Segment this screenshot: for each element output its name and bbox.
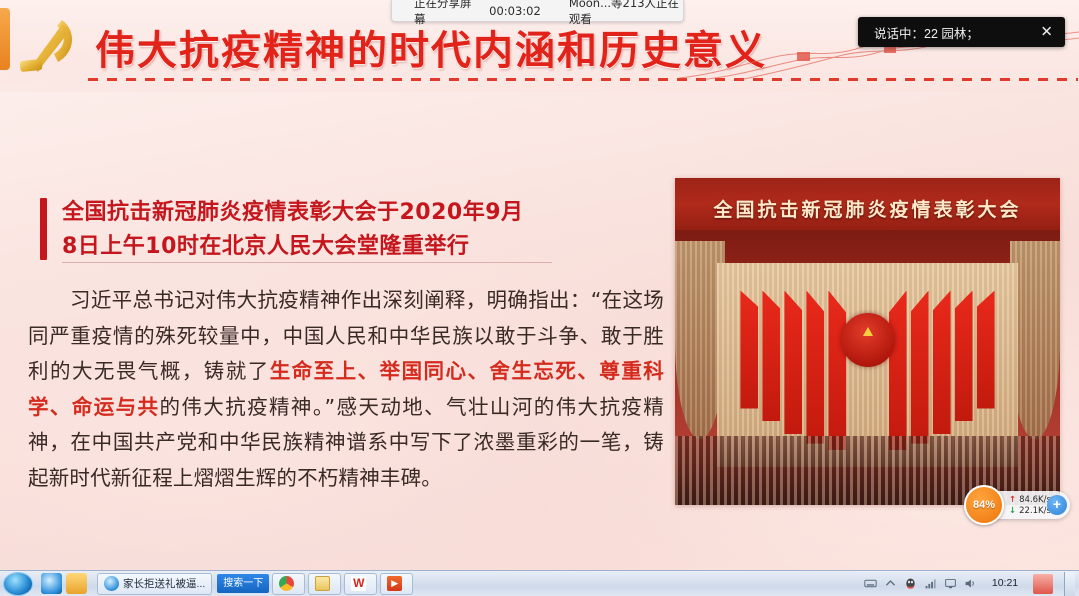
cpu-usage-ring[interactable]: 84% — [964, 485, 1004, 525]
heading-line-2: 8日上午10时在北京人民大会堂隆重举行 — [62, 230, 600, 264]
heading-line-1: 全国抗击新冠肺炎疫情表彰大会于2020年9月 — [62, 196, 600, 230]
taskbar-item-chrome[interactable] — [272, 573, 305, 595]
start-button[interactable] — [3, 572, 33, 596]
show-hidden-icons-icon[interactable] — [884, 577, 897, 590]
national-emblem-icon — [841, 313, 895, 367]
share-timer: 00:03:02 — [489, 4, 541, 18]
quick-launch-area — [41, 573, 87, 594]
network-speed-widget[interactable]: 84% ↑84.6K/s ↓22.1K/s + — [967, 491, 1070, 519]
ie-quicklaunch-icon[interactable] — [41, 573, 62, 594]
download-speed: ↓22.1K/s — [1009, 506, 1051, 516]
network-signal-icon[interactable] — [924, 577, 937, 590]
screen-share-status-bar[interactable]: 正在分享屏幕 00:03:02 Moon...等213人正在观看 — [391, 0, 684, 22]
windows-taskbar: 家长拒送礼被逼... 搜索一下 W ▶ — [0, 570, 1079, 596]
active-speaker-toast[interactable]: 说话中：22 园林； ✕ — [858, 17, 1065, 47]
photo-flags-right — [889, 291, 995, 451]
monitor-icon[interactable] — [944, 577, 957, 590]
taskbar-item-yellow-app[interactable] — [308, 573, 341, 595]
great-hall-of-the-people-photo: 全国抗击新冠肺炎疫情表彰大会 — [675, 178, 1060, 505]
header-left-accent-bar — [0, 8, 10, 70]
slide-body-paragraph: 习近平总书记对伟大抗疫精神作出深刻阐释，明确指出：“在这场同严重疫情的殊死较量中… — [28, 283, 664, 496]
page-title: 伟大抗疫精神的时代内涵和历史意义 — [95, 18, 767, 76]
chrome-icon — [279, 576, 294, 591]
download-speed-value: 22.1K/s — [1019, 506, 1051, 516]
photo-hall-interior — [675, 230, 1060, 505]
presentation-slide: 伟大抗疫精神的时代内涵和历史意义 全国抗击新冠肺炎疫情表彰大会于2020年9月 … — [0, 0, 1079, 570]
taskbar-item-media[interactable]: ▶ — [380, 573, 413, 595]
taskbar-item-label: 家长拒送礼被逼... — [123, 576, 205, 591]
taskbar-search-button[interactable]: 搜索一下 — [217, 574, 269, 593]
media-play-icon: ▶ — [387, 576, 402, 591]
close-icon[interactable]: ✕ — [1040, 25, 1053, 40]
wps-icon: W — [351, 576, 366, 591]
upload-arrow-icon: ↑ — [1009, 495, 1016, 505]
clock[interactable]: 10:21 — [984, 578, 1026, 589]
screen-root: 伟大抗疫精神的时代内涵和历史意义 全国抗击新冠肺炎疫情表彰大会于2020年9月 … — [0, 0, 1079, 596]
tray-extra-app-icon[interactable] — [1033, 574, 1053, 594]
download-arrow-icon: ↓ — [1009, 506, 1016, 516]
taskbar-item-wps[interactable]: W — [344, 573, 377, 595]
heading-accent-bar — [40, 198, 47, 260]
photo-flags-left — [740, 291, 846, 451]
yellow-app-icon — [315, 576, 330, 591]
folder-quicklaunch-icon[interactable] — [66, 573, 87, 594]
keyboard-icon[interactable] — [864, 577, 877, 590]
active-speaker-label: 说话中：22 园林； — [874, 23, 979, 42]
expand-plus-icon[interactable]: + — [1047, 495, 1067, 515]
taskbar-item-ie[interactable]: 家长拒送礼被逼... — [97, 573, 212, 595]
hammer-and-sickle-icon — [14, 14, 88, 80]
heading-underline — [62, 262, 552, 263]
qq-icon[interactable] — [904, 577, 917, 590]
photo-banner-text: 全国抗击新冠肺炎疫情表彰大会 — [675, 195, 1060, 222]
upload-speed: ↑84.6K/s — [1009, 495, 1051, 505]
system-tray: 10:21 — [864, 572, 1079, 596]
slide-heading-block: 全国抗击新冠肺炎疫情表彰大会于2020年9月 8日上午10时在北京人民大会堂隆重… — [40, 196, 600, 264]
share-viewers-label: Moon...等213人正在观看 — [569, 0, 683, 27]
ie-icon — [104, 576, 119, 591]
cpu-usage-value: 84% — [973, 499, 995, 511]
volume-icon[interactable] — [964, 577, 977, 590]
share-status-label: 正在分享屏幕 — [414, 0, 473, 27]
taskbar-items: 家长拒送礼被逼... 搜索一下 W ▶ — [97, 573, 413, 595]
show-desktop-button[interactable] — [1064, 572, 1075, 596]
